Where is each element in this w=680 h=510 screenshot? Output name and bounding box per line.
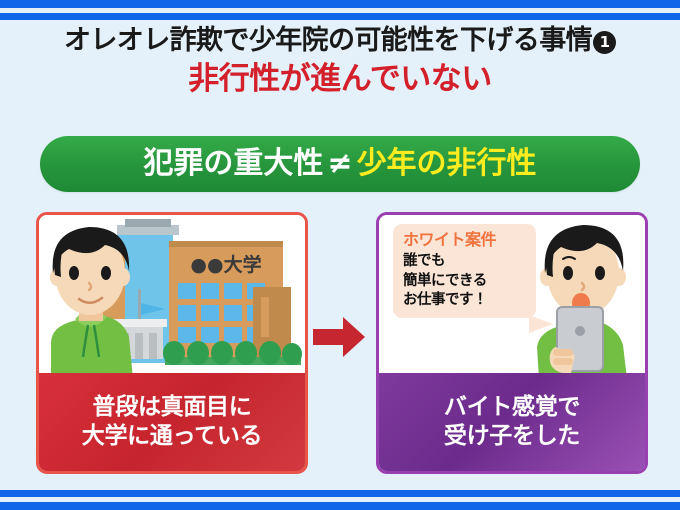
bottom-stripe-outer: [0, 502, 680, 510]
top-stripe-outer: [0, 0, 680, 8]
page-title-text: オレオレ詐欺で少年院の可能性を下げる事情: [64, 25, 592, 56]
panel-after: ホワイト案件 誰でも 簡単にできる お仕事です！ バイト感覚で 受け子をした: [376, 212, 648, 474]
bubble-body-line3: お仕事です！: [403, 291, 527, 310]
building-sign-text: ●●大学: [190, 253, 261, 276]
page-subtitle: 非行性が進んでいない: [0, 62, 680, 96]
heading-block: オレオレ詐欺で少年院の可能性を下げる事情1 非行性が進んでいない: [0, 26, 680, 96]
bottom-stripe-inner: [0, 490, 680, 497]
speech-bubble-tail: [529, 315, 553, 333]
panel-after-caption: バイト感覚で 受け子をした: [379, 373, 645, 471]
panel-after-caption-line1: バイト感覚で: [444, 393, 580, 422]
top-stripe-inner: [0, 13, 680, 20]
key-message-banner: 犯罪の重大性≠少年の非行性: [40, 136, 640, 192]
university-scene-svg: ●●大学: [39, 215, 305, 379]
banner-text: 犯罪の重大性≠少年の非行性: [143, 149, 536, 179]
panel-before-illustration: ●●大学: [39, 215, 305, 379]
banner-left-term: 犯罪の重大性: [143, 146, 323, 181]
page-title: オレオレ詐欺で少年院の可能性を下げる事情1: [0, 26, 680, 56]
bubble-body: 誰でも 簡単にできる お仕事です！: [403, 252, 527, 309]
banner-right-term: 少年の非行性: [357, 146, 537, 181]
panel-before-caption: 普段は真面目に 大学に通っている: [39, 373, 305, 471]
panel-after-illustration: ホワイト案件 誰でも 簡単にできる お仕事です！: [379, 215, 645, 379]
not-equal-icon: ≠: [327, 146, 352, 181]
bubble-title: ホワイト案件: [403, 231, 527, 249]
panel-before-caption-line1: 普段は真面目に: [93, 393, 252, 422]
bubble-body-line2: 簡単にできる: [403, 272, 527, 291]
title-number-badge: 1: [593, 31, 616, 54]
panel-after-caption-line2: 受け子をした: [444, 422, 580, 451]
panel-before: ●●大学: [36, 212, 308, 474]
speech-bubble: ホワイト案件 誰でも 簡単にできる お仕事です！: [393, 224, 536, 318]
transition-arrow-icon: [313, 315, 365, 359]
bubble-body-line1: 誰でも: [403, 252, 527, 271]
panel-before-caption-line2: 大学に通っている: [82, 422, 262, 451]
